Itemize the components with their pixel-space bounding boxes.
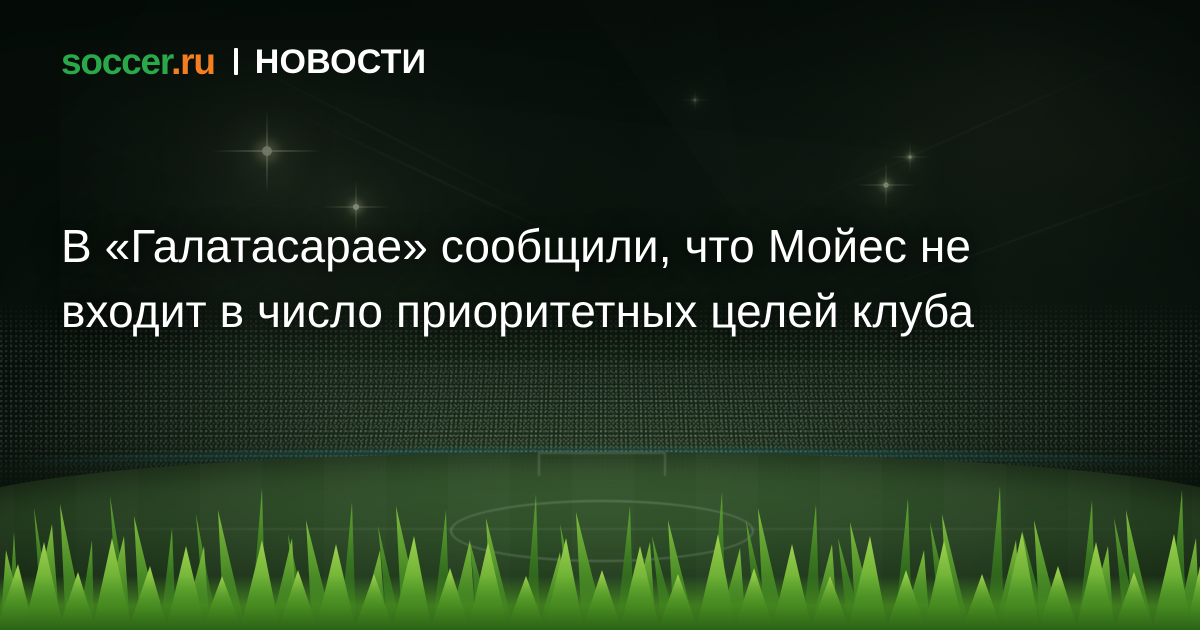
brand-bar[interactable]: soccer.ru НОВОСТИ	[61, 43, 426, 80]
news-share-card: soccer.ru НОВОСТИ В «Галатасарае» сообщи…	[0, 0, 1200, 630]
brand-separator-icon	[234, 48, 238, 75]
site-logo-name: soccer	[61, 41, 171, 82]
card-content: soccer.ru НОВОСТИ В «Галатасарае» сообщи…	[0, 0, 1200, 630]
section-label: НОВОСТИ	[255, 45, 426, 79]
site-logo-tld: .ru	[171, 41, 215, 82]
page-title: В «Галатасарае» сообщили, что Мойес не в…	[61, 214, 1021, 344]
site-logo[interactable]: soccer.ru	[61, 43, 215, 80]
